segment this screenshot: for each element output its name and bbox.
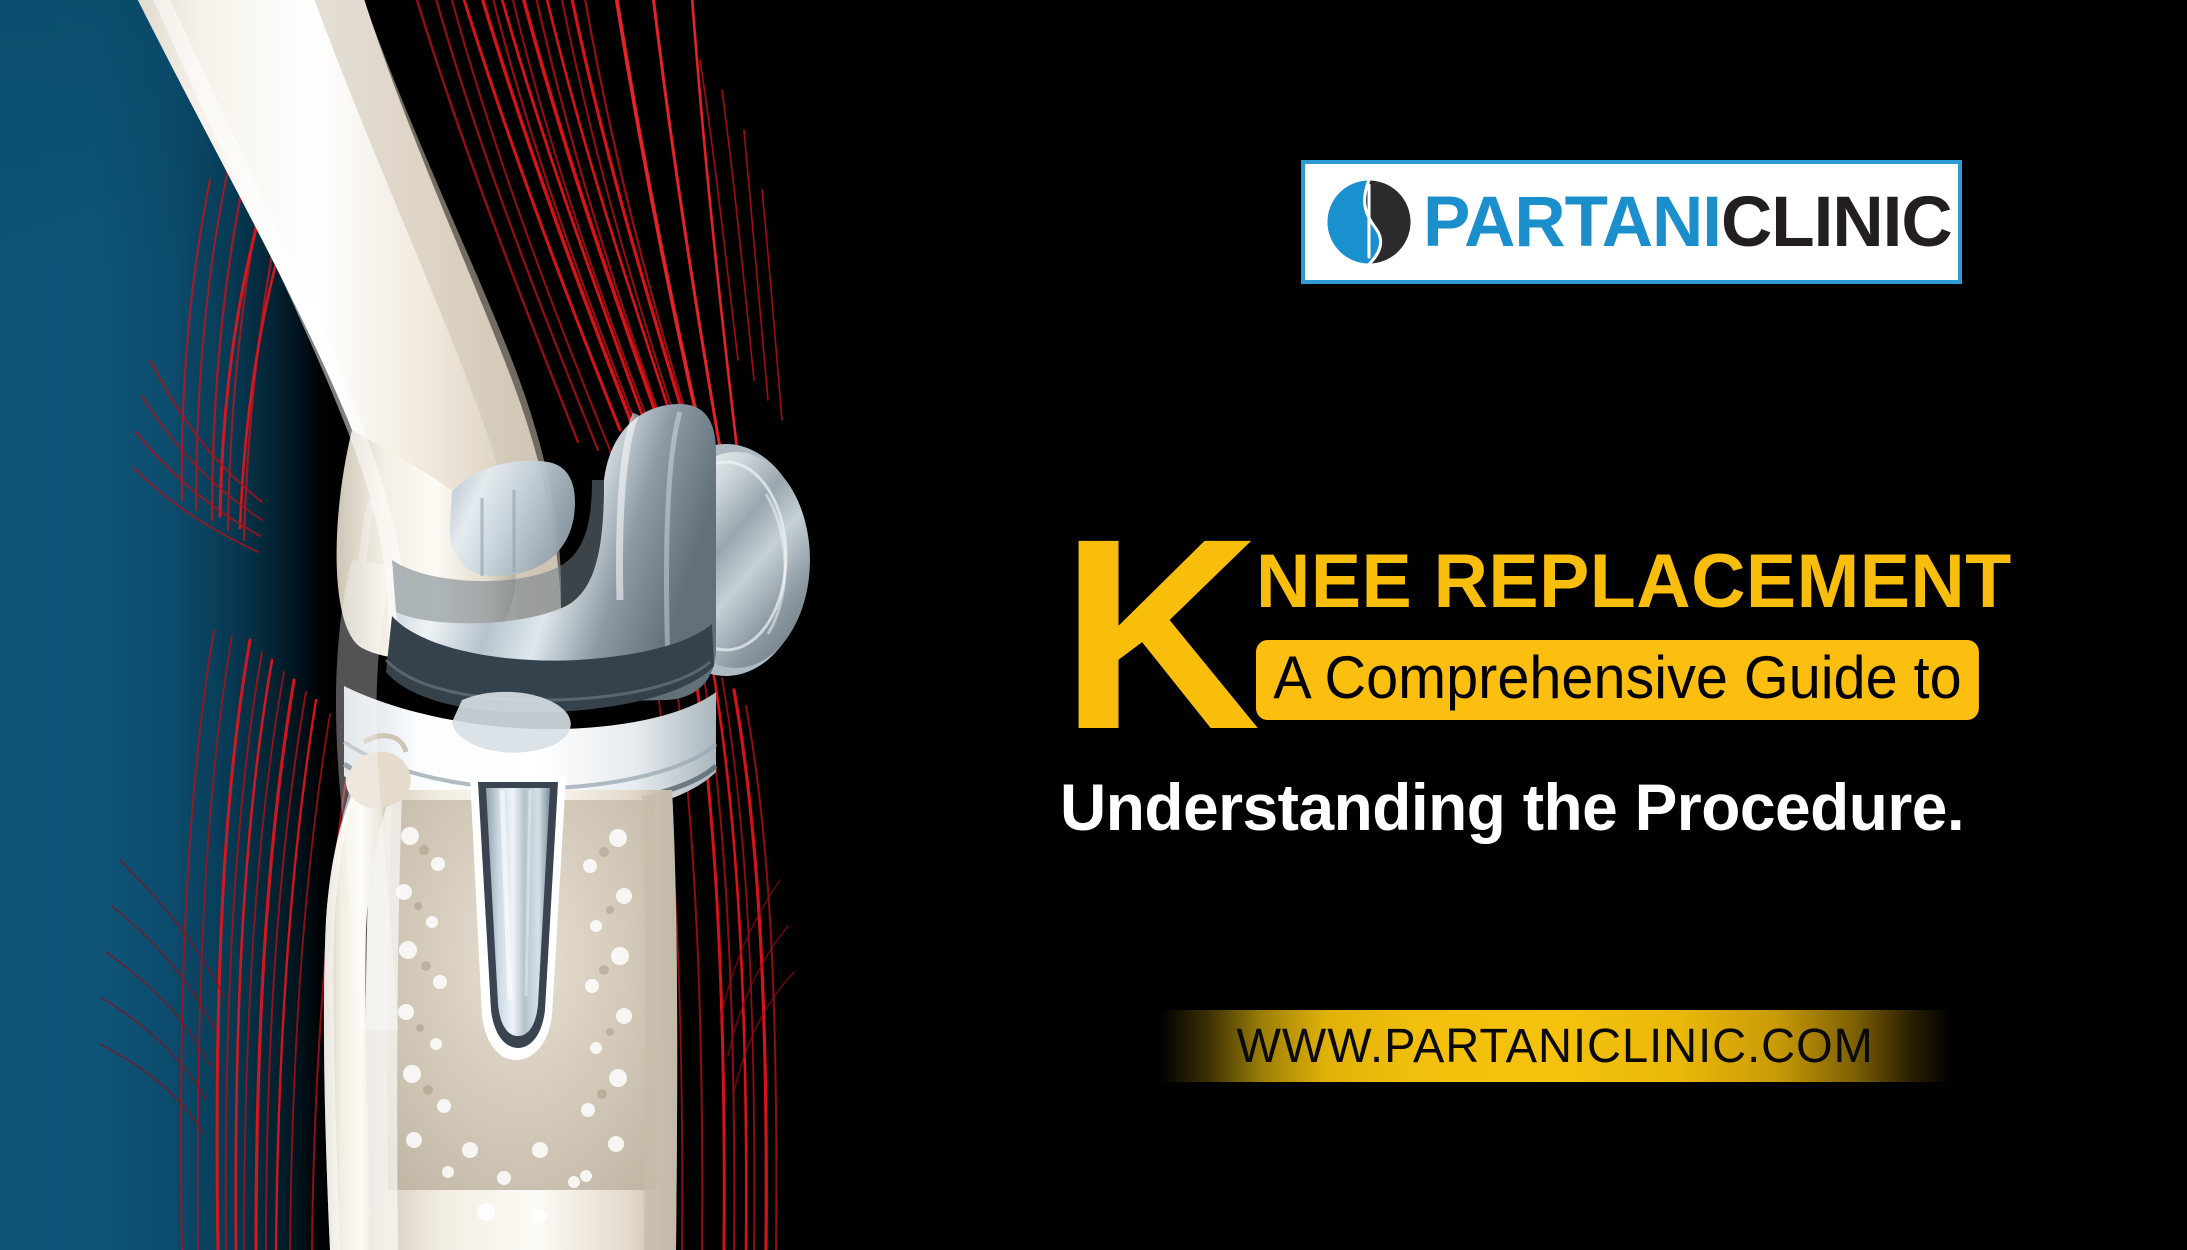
website-url-text: WWW.PARTANICLINIC.COM xyxy=(1236,1019,1873,1074)
headline-row-1: K NEE REPLACEMENT A Comprehensive Guide … xyxy=(1060,540,2020,748)
headline-line-2: Understanding the Procedure. xyxy=(1060,774,1991,840)
banner-root: PARTANICLINIC K NEE REPLACEMENT A Compre… xyxy=(0,0,2187,1250)
yin-yang-droplet-icon xyxy=(1321,174,1417,270)
logo-wordmark: PARTANICLINIC xyxy=(1423,187,1952,258)
logo-word-partani: PARTANI xyxy=(1423,183,1721,262)
headline-right-stack: NEE REPLACEMENT A Comprehensive Guide to xyxy=(1256,540,2020,720)
website-url-bar[interactable]: WWW.PARTANICLINIC.COM xyxy=(1160,1010,1950,1082)
tibial-stem xyxy=(470,776,566,1060)
knee-replacement-illustration xyxy=(0,0,900,1250)
headline-subtitle-pill: A Comprehensive Guide to xyxy=(1256,640,1979,720)
headline-block: K NEE REPLACEMENT A Comprehensive Guide … xyxy=(1060,540,2020,840)
clinic-logo[interactable]: PARTANICLINIC xyxy=(1301,160,1962,284)
headline-drop-cap: K xyxy=(1060,534,1254,735)
logo-word-clinic: CLINIC xyxy=(1721,183,1952,262)
headline-title: NEE REPLACEMENT xyxy=(1256,544,2012,620)
